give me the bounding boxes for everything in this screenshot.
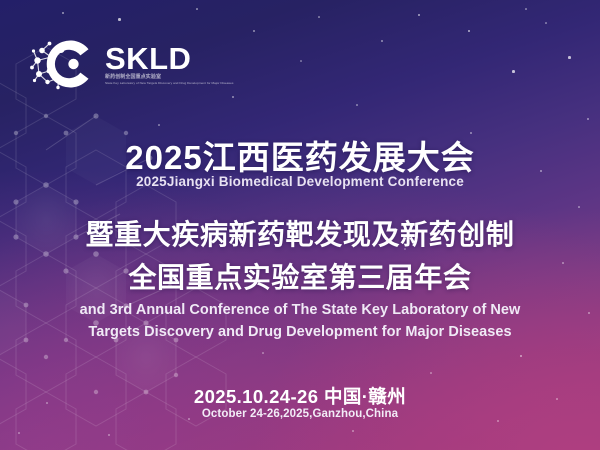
main-title-en: 2025Jiangxi Biomedical Development Confe… (0, 174, 600, 189)
date-location-en: October 24-26,2025,Ganzhou,China (0, 408, 600, 420)
subtitle-cn-line2: 全国重点实验室第三届年会 (0, 256, 600, 296)
main-title-cn: 2025江西医药发展大会 (0, 131, 600, 179)
conference-poster: SKLD 新药创制全国重点实验室 State Key Laboratory of… (0, 0, 600, 450)
date-location-cn: 2025.10.24-26 中国·赣州 (0, 383, 600, 409)
subtitle-en-line2: Targets Discovery and Drug Development f… (0, 324, 600, 340)
poster-content: 2025江西医药发展大会 2025Jiangxi Biomedical Deve… (0, 0, 600, 450)
subtitle-en-line1: and 3rd Annual Conference of The State K… (0, 302, 600, 318)
subtitle-cn-line1: 暨重大疾病新药靶发现及新药创制 (0, 213, 600, 253)
